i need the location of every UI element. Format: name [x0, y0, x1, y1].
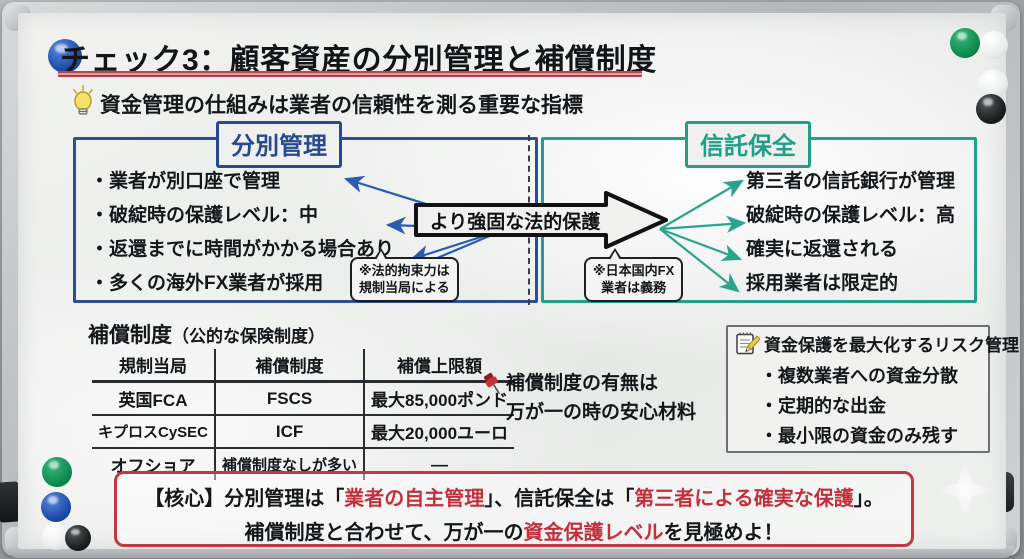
- list-item: 採用業者は限定的: [746, 267, 955, 301]
- conclusion-line-1: 【核心】分別管理は「業者の自主管理」、信託保全は「第三者による確実な保護」。: [117, 482, 911, 511]
- list-item: 確実に返還される: [746, 233, 955, 267]
- pin-note-line2: 万が一の時の安心材料: [506, 398, 696, 427]
- pushpin-icon: [480, 371, 506, 397]
- center-arrow-label: より強固な法的保護: [424, 205, 606, 235]
- whiteboard-screenshot: チェック3：顧客資産の分別管理と補償制度 資金管理の仕組みは業者の信頼性を測る重…: [0, 0, 1024, 559]
- magnet-blue-bottom-left[interactable]: [41, 492, 71, 522]
- title-underline: [58, 71, 642, 77]
- center-arrow: より強固な法的保護: [410, 191, 672, 249]
- compensation-table: 規制当局 補償制度 補償上限額 英国FCA FSCS 最大85,000ポンド キ…: [92, 349, 514, 480]
- glare-sparkle: [928, 453, 1002, 527]
- conclusion-highlight-1: 業者の自主管理: [344, 488, 484, 510]
- table-cell: ICF: [215, 415, 364, 448]
- conclusion-line-2: 補償制度と合わせて、万が一の資金保護レベルを見極めよ！: [117, 516, 911, 545]
- risk-panel-list: ・複数業者への資金分散 ・定期的な出金 ・最小限の資金のみ残す: [760, 361, 958, 451]
- table-header-row: 規制当局 補償制度 補償上限額: [92, 349, 514, 382]
- conclusion-text-e: を見極めよ！: [664, 522, 784, 544]
- conclusion-text-d: 補償制度と合わせて、万が一の: [245, 522, 524, 544]
- magnet-white-top-right-1[interactable]: [980, 31, 1008, 59]
- callout-left-line2: 規制当局による: [359, 279, 450, 296]
- conclusion-text-a: 【核心】分別管理は「: [144, 488, 344, 510]
- panel-left-caption: 分別管理: [216, 121, 342, 168]
- table-title: 補償制度（公的な保険制度）: [88, 319, 325, 349]
- table-cell: キプロスCySEC: [92, 415, 215, 448]
- list-item: ・最小限の資金のみ残す: [760, 421, 958, 451]
- table-row: キプロスCySEC ICF 最大20,000ユーロ: [92, 415, 514, 448]
- table-cell: 最大20,000ユーロ: [364, 415, 514, 448]
- magnet-green-bottom-left[interactable]: [42, 457, 72, 487]
- panel-right-caption: 信託保全: [685, 121, 811, 168]
- whiteboard-surface: チェック3：顧客資産の分別管理と補償制度 資金管理の仕組みは業者の信頼性を測る重…: [18, 13, 1006, 549]
- pin-note: 補償制度の有無は 万が一の時の安心材料: [506, 369, 696, 427]
- risk-panel-heading: 資金保護を最大化するリスク管理: [764, 331, 1019, 356]
- callout-right: ※日本国内FX 業者は義務: [584, 257, 683, 302]
- whiteboard-frame: チェック3：顧客資産の分別管理と補償制度 資金管理の仕組みは業者の信頼性を測る重…: [2, 2, 1020, 556]
- list-item: 破綻時の保護レベル：高: [746, 199, 955, 233]
- conclusion-highlight-2: 第三者による確実な保護: [634, 488, 853, 510]
- callout-left: ※法的拘束力は 規制当局による: [350, 257, 459, 302]
- table-title-main: 補償制度: [88, 324, 172, 347]
- conclusion-text-c: 」。: [854, 488, 884, 510]
- conclusion-text-b: 」、信託保全は「: [484, 488, 634, 510]
- table-cell: 英国FCA: [92, 382, 215, 416]
- lightbulb-icon: [70, 85, 96, 117]
- list-item: ・複数業者への資金分散: [760, 361, 958, 391]
- magnet-black-bottom-left[interactable]: [65, 525, 91, 551]
- conclusion-box: 【核心】分別管理は「業者の自主管理」、信託保全は「第三者による確実な保護」。 補…: [114, 471, 914, 547]
- table-title-sub: （公的な保険制度）: [172, 327, 325, 346]
- table-header-cell: 規制当局: [92, 349, 215, 382]
- table-header-cell: 補償制度: [215, 349, 364, 382]
- callout-right-line2: 業者は義務: [593, 279, 674, 296]
- table-row: 英国FCA FSCS 最大85,000ポンド: [92, 382, 514, 416]
- callout-left-line1: ※法的拘束力は: [359, 262, 450, 279]
- panel-right-list: 第三者の信託銀行が管理 破綻時の保護レベル：高 確実に返還される 採用業者は限定…: [746, 165, 955, 301]
- memo-pencil-icon: [734, 331, 760, 357]
- magnet-green-top-right[interactable]: [950, 28, 980, 58]
- list-item: 第三者の信託銀行が管理: [746, 165, 955, 199]
- magnet-black-top-right[interactable]: [976, 94, 1006, 124]
- table-cell: FSCS: [215, 382, 364, 416]
- pin-note-line1: 補償制度の有無は: [506, 369, 696, 398]
- callout-right-line1: ※日本国内FX: [593, 262, 674, 279]
- list-item: ・定期的な出金: [760, 391, 958, 421]
- conclusion-highlight-3: 資金保護レベル: [524, 522, 664, 544]
- page-subtitle: 資金管理の仕組みは業者の信頼性を測る重要な指標: [100, 89, 583, 119]
